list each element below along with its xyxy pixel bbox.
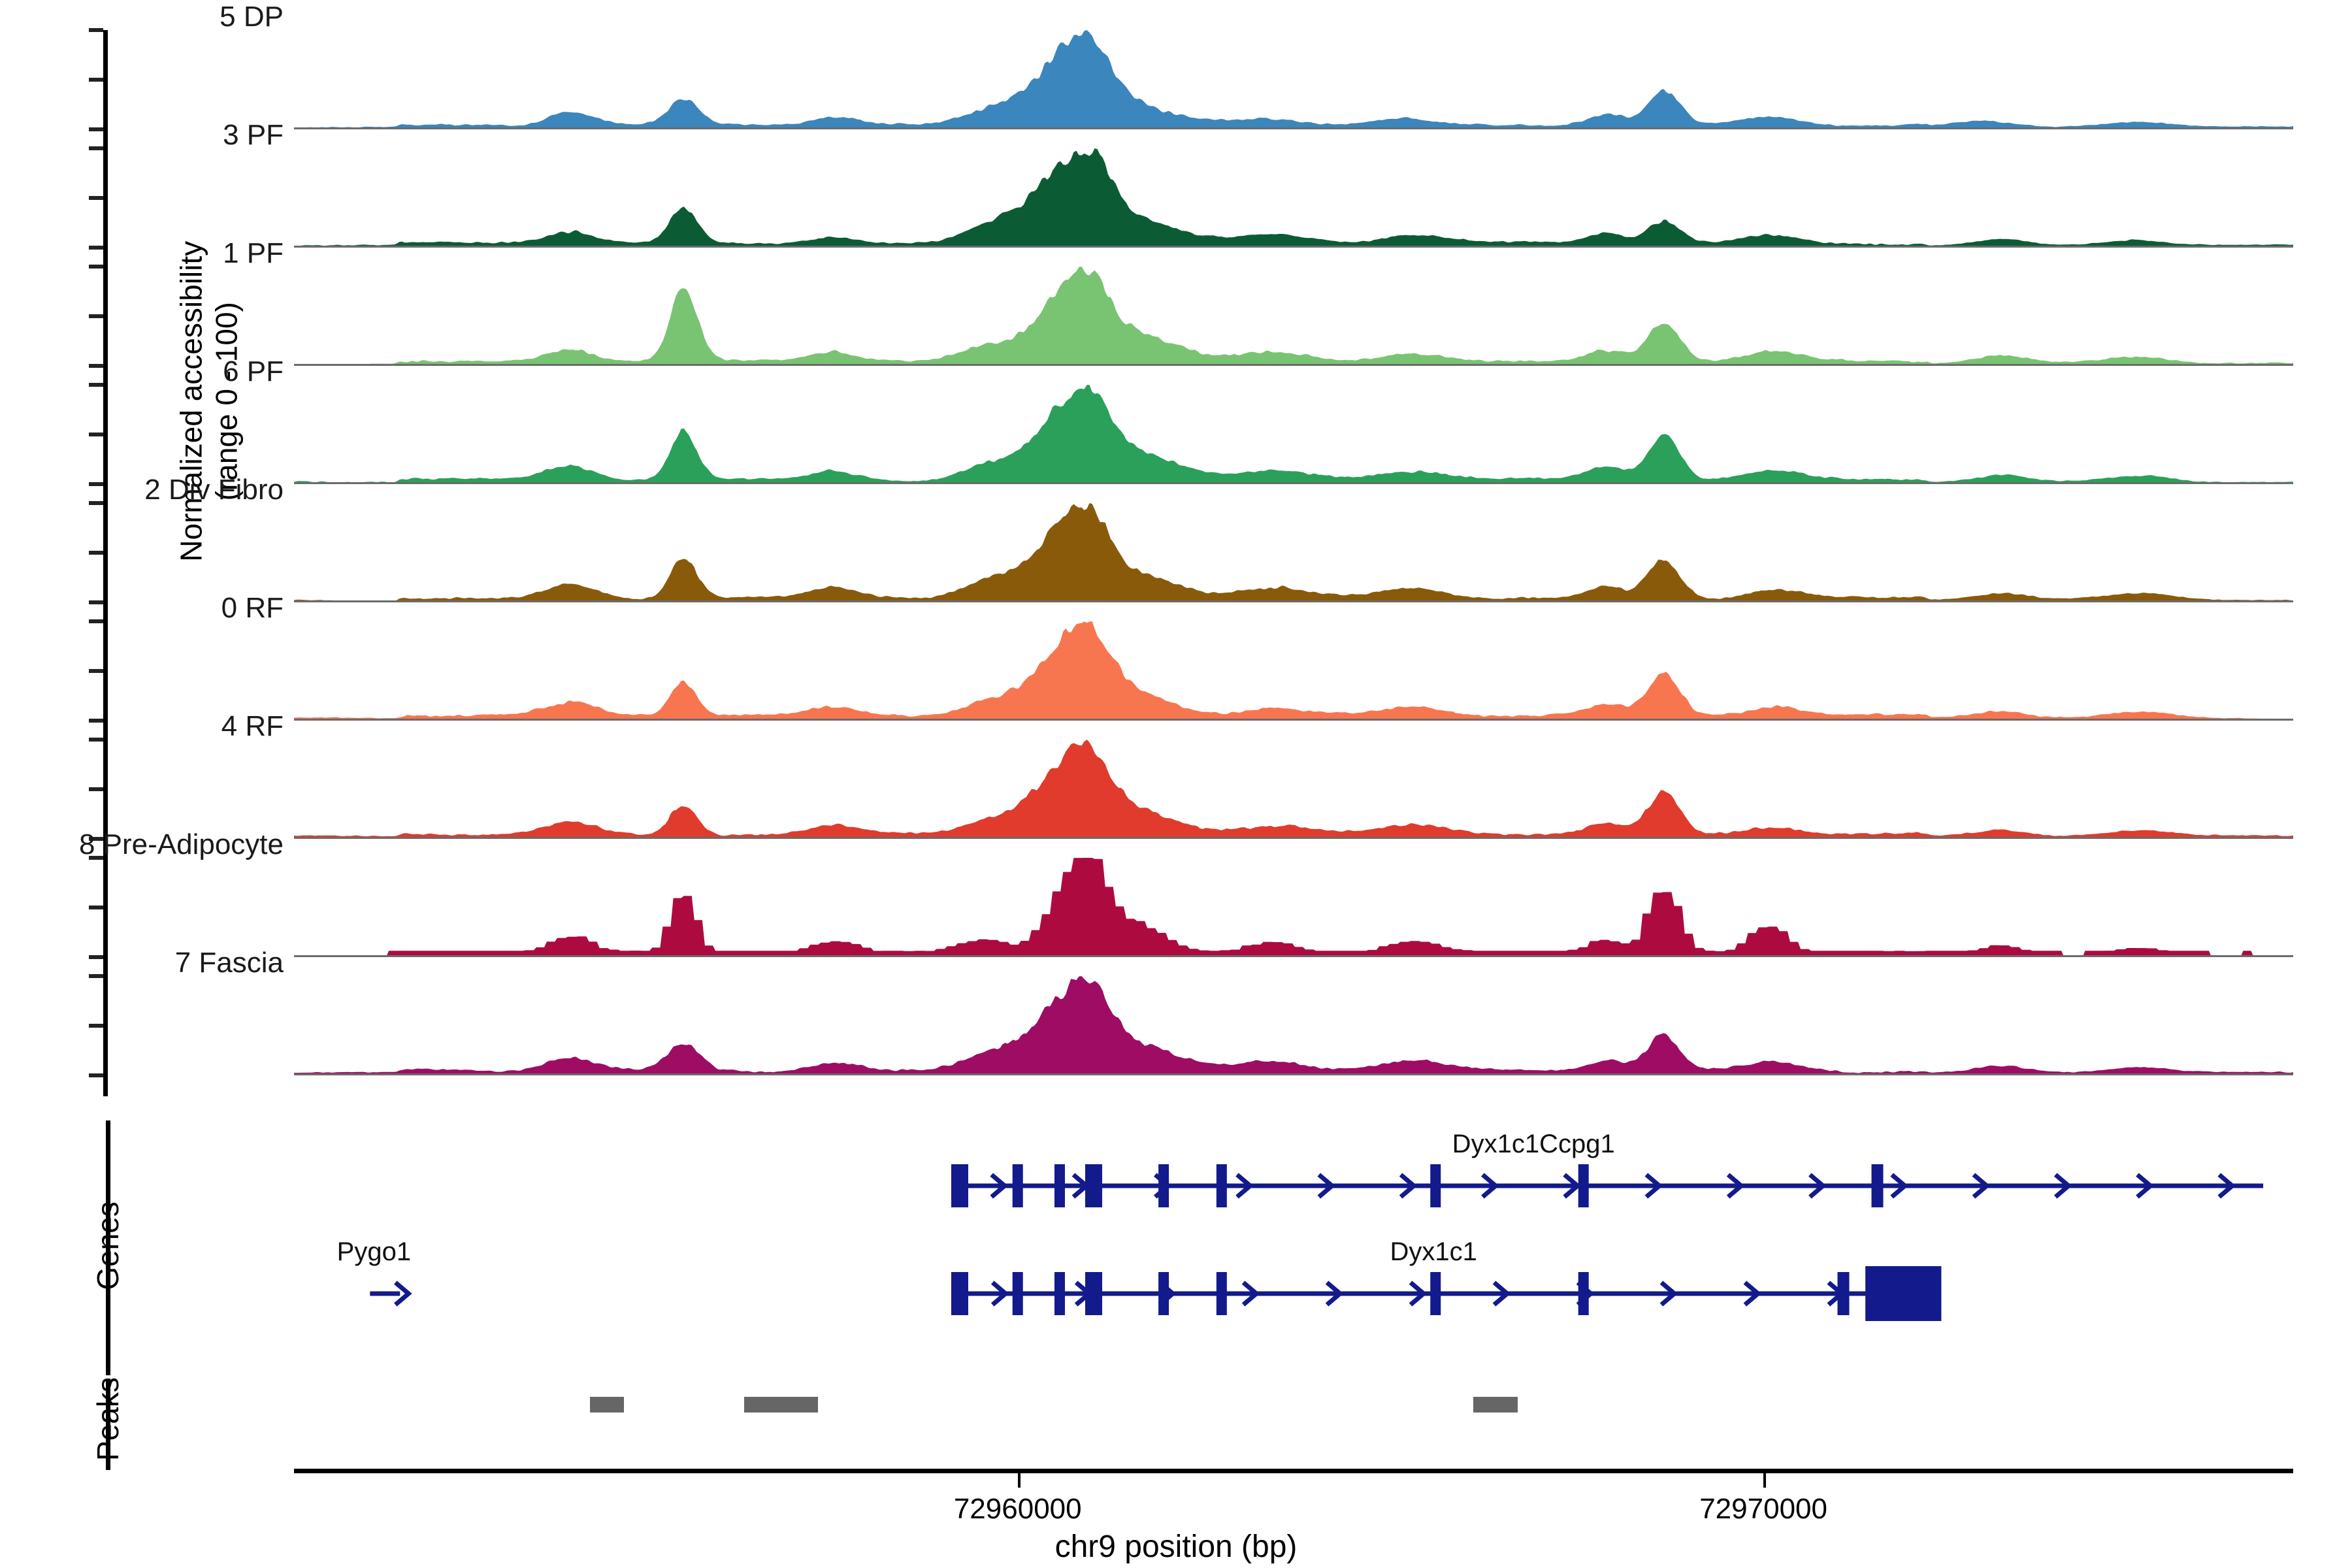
gene-exon — [1013, 1164, 1023, 1207]
gene-exon — [1013, 1272, 1023, 1315]
x-axis-tick — [1763, 1473, 1766, 1488]
gene-exon — [951, 1272, 968, 1315]
gene-exon — [1217, 1272, 1227, 1315]
gene-utr-block — [1865, 1266, 1941, 1321]
gene-exon — [1578, 1164, 1589, 1207]
gene-exon — [1085, 1272, 1102, 1315]
gene-exon — [1872, 1164, 1884, 1207]
gene-exon — [1158, 1164, 1169, 1207]
gene-exon — [1430, 1164, 1441, 1207]
peak-region — [590, 1397, 624, 1413]
peaks-section-label: Peaks — [90, 1223, 125, 1568]
gene-exon — [1430, 1272, 1441, 1315]
gene-exon — [1217, 1164, 1227, 1207]
genome-browser-figure: Normalized accessibility (range 0 - 100)… — [0, 0, 2352, 1568]
peak-region — [1473, 1397, 1517, 1413]
x-axis-tick — [1018, 1473, 1021, 1488]
x-axis-line — [294, 1469, 2293, 1473]
gene-exon — [1838, 1272, 1850, 1315]
peak-region — [744, 1397, 818, 1413]
x-axis-title: chr9 position (bp) — [0, 1529, 2352, 1565]
gene-exon — [1054, 1164, 1065, 1207]
gene-exon — [951, 1164, 968, 1207]
gene-models — [0, 0, 2352, 1568]
gene-exon — [1054, 1272, 1065, 1315]
x-axis-tick-label: 72970000 — [1699, 1493, 1827, 1526]
gene-exon — [1085, 1164, 1102, 1207]
gene-exon — [1158, 1272, 1169, 1315]
x-axis-tick-label: 72960000 — [954, 1493, 1082, 1526]
gene-exon — [1578, 1272, 1589, 1315]
